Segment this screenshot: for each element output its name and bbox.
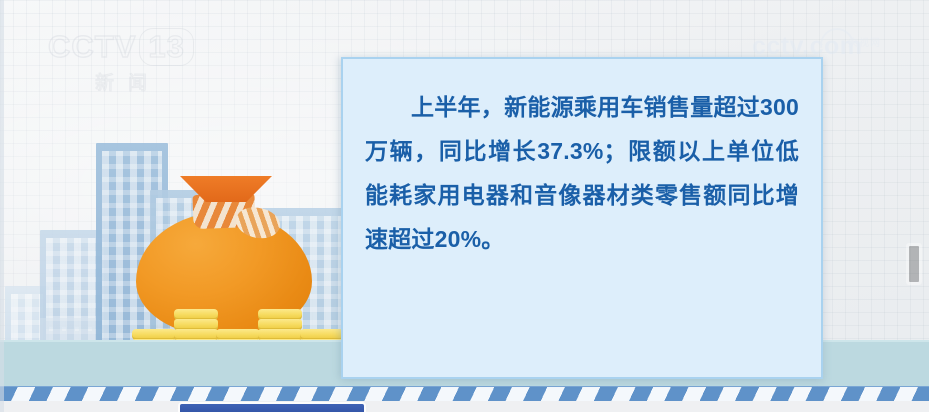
left-edge-band xyxy=(0,0,4,412)
right-edge-marker xyxy=(909,246,919,282)
channel-sub-label: 新闻 xyxy=(48,68,198,95)
cctv-com-cn-text: 央视网 xyxy=(848,34,881,49)
broadcast-frame: 上半年，新能源乘用车销售量超过300万辆，同比增长37.3%；限额以上单位低能耗… xyxy=(0,0,929,412)
cctv-com-watermark: cctv.com 央视网 xyxy=(752,32,912,72)
cctv13-watermark: CCTV13 新闻 xyxy=(48,28,198,90)
panel-body-text: 上半年，新能源乘用车销售量超过300万辆，同比增长37.3%；限额以上单位低能耗… xyxy=(365,85,799,261)
channel-number: 13 xyxy=(139,28,193,66)
cctv-logo-text: CCTV xyxy=(48,29,136,64)
bottom-banner xyxy=(180,404,364,412)
cctv-logo-icon: CCTV13 xyxy=(48,28,198,66)
money-bag-illustration xyxy=(136,178,312,350)
statistics-text-panel: 上半年，新能源乘用车销售量超过300万辆，同比增长37.3%；限额以上单位低能耗… xyxy=(341,57,823,379)
below-stripe-band xyxy=(0,401,929,412)
